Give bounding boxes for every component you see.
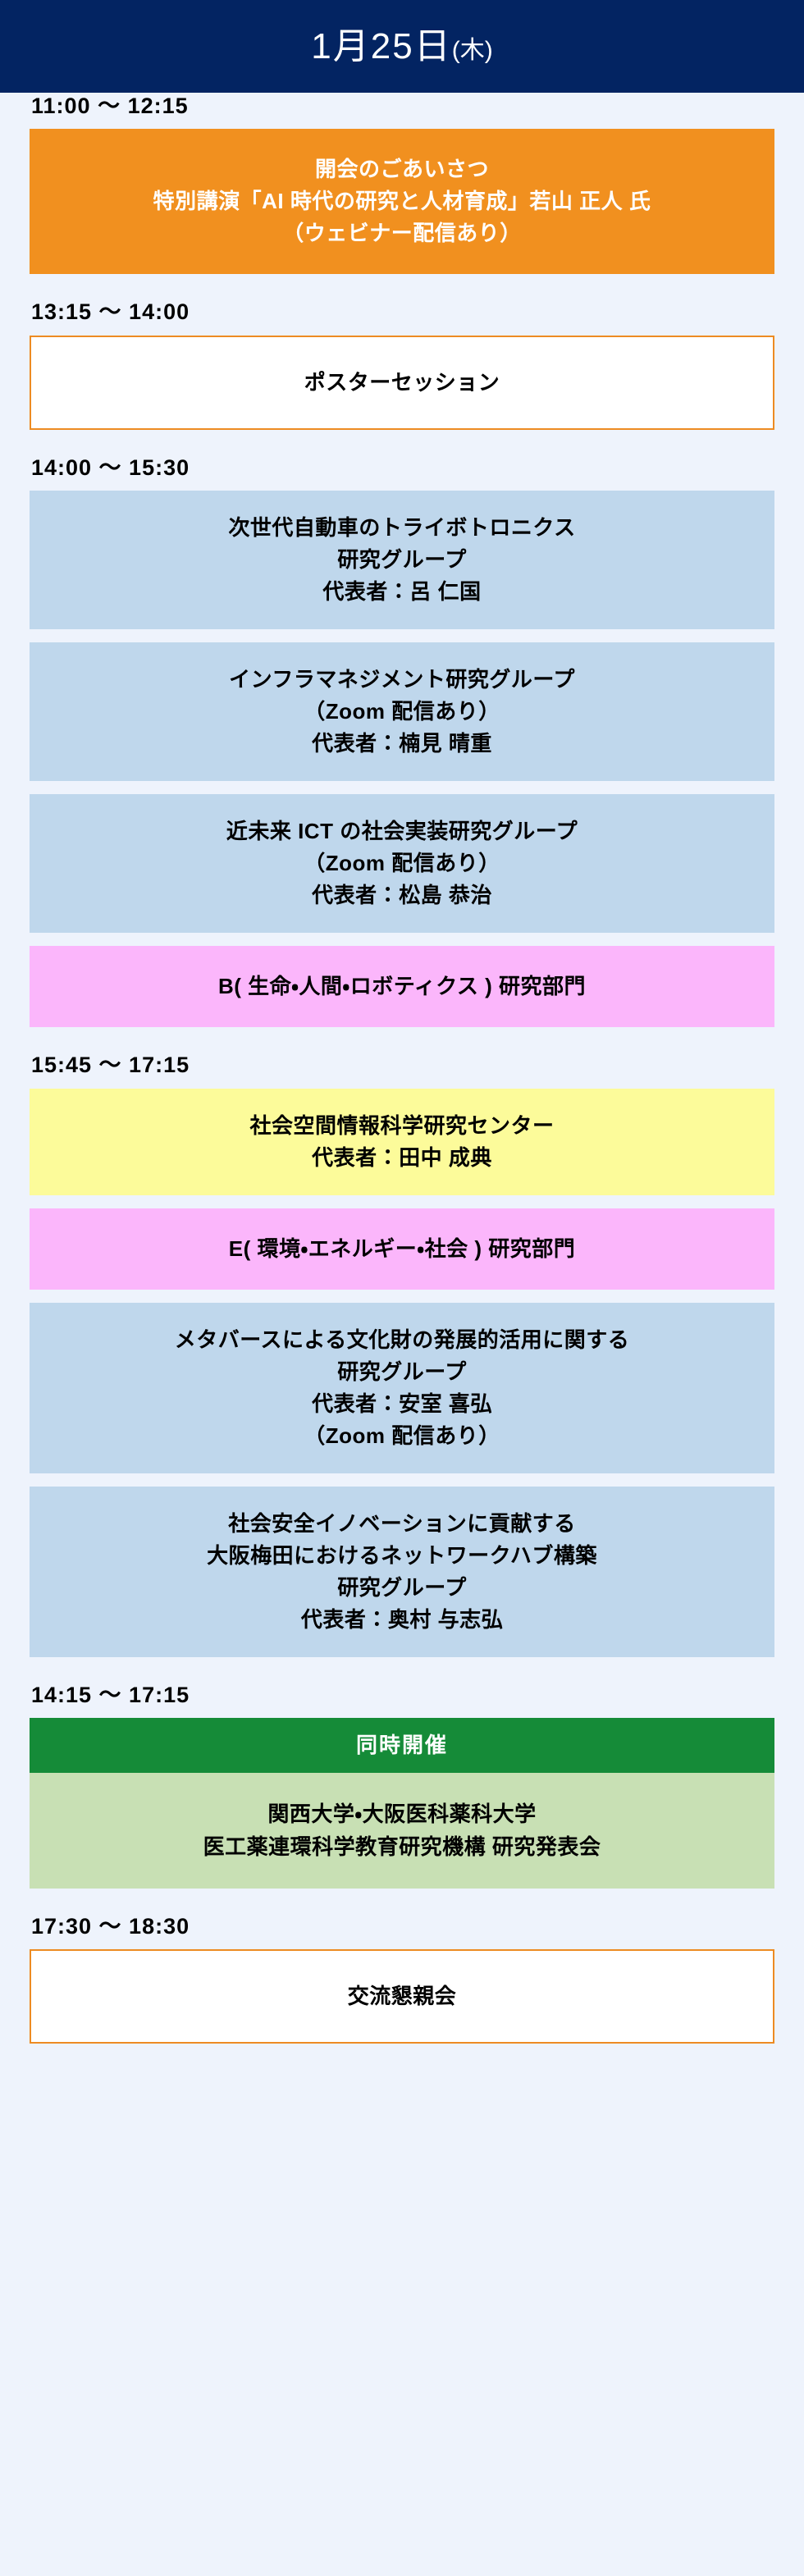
session-card-line: 社会空間情報科学研究センター	[44, 1110, 760, 1142]
session-card-line: 研究グループ	[44, 1572, 760, 1604]
session-card-line: 研究グループ	[44, 544, 760, 576]
header-date: 1月25日	[311, 26, 451, 66]
session-card-blue[interactable]: メタバースによる文化財の発展的活用に関する研究グループ代表者：安室 喜弘（Zoo…	[30, 1303, 774, 1473]
session-card-line: 交流懇親会	[46, 1980, 758, 2012]
session-card-green[interactable]: 同時開催関西大学・大阪医科薬科大学医工薬連環科学教育研究機構 研究発表会	[30, 1718, 774, 1889]
session-card-line: 代表者：楠見 晴重	[44, 728, 760, 760]
session-card-line: 代表者：安室 喜弘	[44, 1388, 760, 1420]
session-card-line: 代表者：呂 仁国	[44, 576, 760, 608]
session-card-blue[interactable]: インフラマネジメント研究グループ（Zoom 配信あり）代表者：楠見 晴重	[30, 642, 774, 781]
session-card-line: 代表者：田中 成典	[44, 1142, 760, 1174]
schedule-slot: 14:15 ～ 17:15同時開催関西大学・大阪医科薬科大学医工薬連環科学教育研…	[30, 1682, 774, 1889]
schedule-list: 11:00 ～ 12:15開会のごあいさつ特別講演「AI 時代の研究と人材育成」…	[0, 93, 804, 2081]
schedule-slot: 15:45 ～ 17:15社会空間情報科学研究センター代表者：田中 成典E( 環…	[30, 1052, 774, 1656]
session-card-orange[interactable]: 開会のごあいさつ特別講演「AI 時代の研究と人材育成」若山 正人 氏（ウェビナー…	[30, 129, 774, 274]
schedule-slot: 11:00 ～ 12:15開会のごあいさつ特別講演「AI 時代の研究と人材育成」…	[30, 93, 774, 274]
session-card-line: 近未来 ICT の社会実装研究グループ	[44, 815, 760, 847]
session-card-line: 開会のごあいさつ	[44, 153, 760, 185]
session-card-line: 社会安全イノベーションに貢献する	[44, 1508, 760, 1540]
session-card-line: （Zoom 配信あり）	[44, 696, 760, 728]
header-day-of-week: (木)	[452, 37, 493, 64]
session-card-line: ポスターセッション	[46, 367, 758, 399]
schedule-slot: 17:30 ～ 18:30交流懇親会	[30, 1913, 774, 2044]
session-card-pink[interactable]: E( 環境・エネルギー・社会 ) 研究部門	[30, 1208, 774, 1290]
schedule-page: 1月25日(木) 11:00 ～ 12:15開会のごあいさつ特別講演「AI 時代…	[0, 0, 804, 2576]
session-card-outline[interactable]: 交流懇親会	[30, 1949, 774, 2044]
slot-time-label: 17:30 ～ 18:30	[30, 1913, 774, 1939]
session-card-body: 関西大学・大阪医科薬科大学医工薬連環科学教育研究機構 研究発表会	[30, 1773, 774, 1889]
slot-time-label: 14:15 ～ 17:15	[30, 1682, 774, 1708]
session-card-line: 代表者：奥村 与志弘	[44, 1604, 760, 1636]
session-card-line: 関西大学・大阪医科薬科大学	[44, 1797, 760, 1830]
concurrent-event-banner: 同時開催	[30, 1718, 774, 1773]
session-card-line: B( 生命・人間・ロボティクス ) 研究部門	[44, 971, 760, 1003]
session-card-line: （ウェビナー配信あり）	[44, 217, 760, 249]
slot-time-label: 15:45 ～ 17:15	[30, 1052, 774, 1078]
schedule-slot: 13:15 ～ 14:00ポスターセッション	[30, 299, 774, 429]
session-card-line: E( 環境・エネルギー・社会 ) 研究部門	[44, 1233, 760, 1265]
session-card-line: 大阪梅田におけるネットワークハブ構築	[44, 1540, 760, 1572]
session-card-pink[interactable]: B( 生命・人間・ロボティクス ) 研究部門	[30, 946, 774, 1027]
session-card-line: 特別講演「AI 時代の研究と人材育成」若山 正人 氏	[44, 185, 760, 217]
session-card-line: 代表者：松島 恭治	[44, 879, 760, 911]
session-card-blue[interactable]: 近未来 ICT の社会実装研究グループ（Zoom 配信あり）代表者：松島 恭治	[30, 794, 774, 933]
session-card-yellow[interactable]: 社会空間情報科学研究センター代表者：田中 成典	[30, 1089, 774, 1195]
session-card-line: 医工薬連環科学教育研究機構 研究発表会	[44, 1830, 760, 1863]
schedule-slot: 14:00 ～ 15:30次世代自動車のトライボトロニクス研究グループ代表者：呂…	[30, 454, 774, 1027]
session-card-blue[interactable]: 次世代自動車のトライボトロニクス研究グループ代表者：呂 仁国	[30, 491, 774, 629]
session-card-outline[interactable]: ポスターセッション	[30, 336, 774, 430]
slot-time-label: 11:00 ～ 12:15	[30, 93, 774, 119]
session-card-line: （Zoom 配信あり）	[44, 1420, 760, 1452]
session-card-line: 次世代自動車のトライボトロニクス	[44, 512, 760, 544]
session-card-blue[interactable]: 社会安全イノベーションに貢献する大阪梅田におけるネットワークハブ構築研究グループ…	[30, 1487, 774, 1657]
session-card-line: （Zoom 配信あり）	[44, 847, 760, 879]
day-header-title: 1月25日(木)	[311, 29, 492, 65]
day-header: 1月25日(木)	[0, 0, 804, 93]
session-card-line: メタバースによる文化財の発展的活用に関する	[44, 1324, 760, 1356]
session-card-line: 研究グループ	[44, 1356, 760, 1388]
slot-time-label: 13:15 ～ 14:00	[30, 299, 774, 325]
slot-time-label: 14:00 ～ 15:30	[30, 454, 774, 481]
session-card-line: インフラマネジメント研究グループ	[44, 664, 760, 696]
